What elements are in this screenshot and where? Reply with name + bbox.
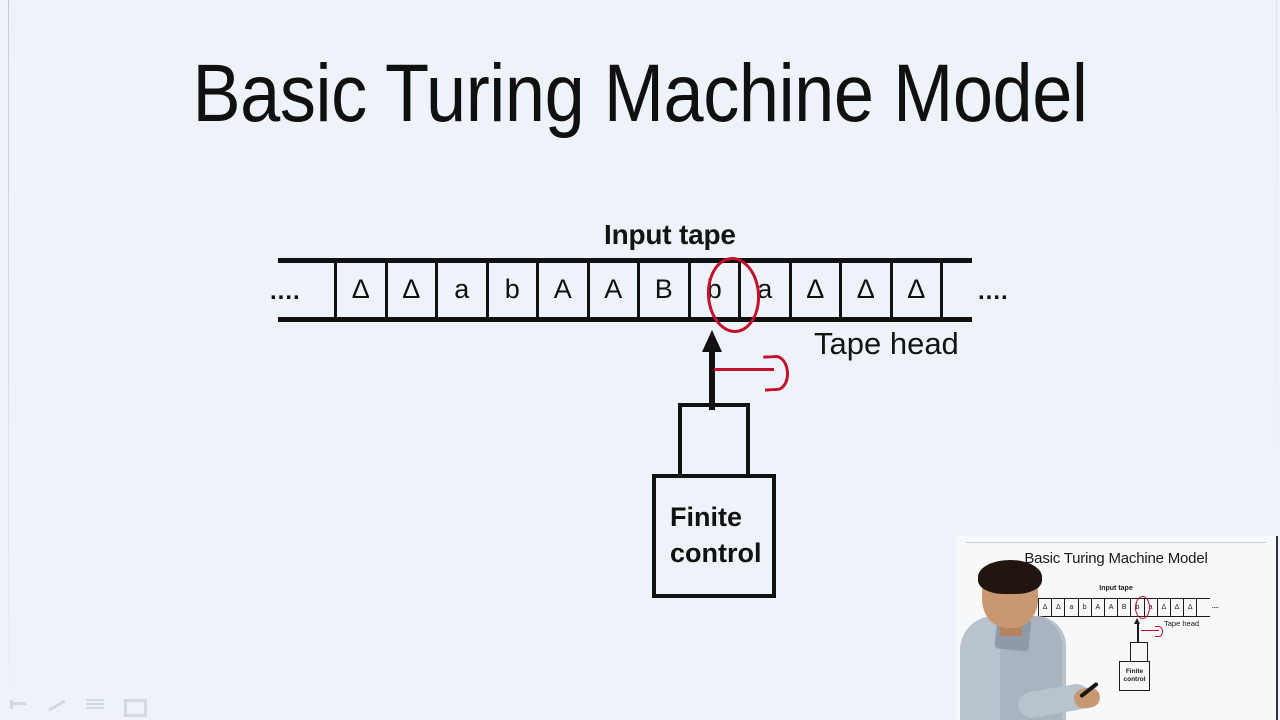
finite-control-label-line2: control	[670, 536, 762, 572]
presenter-hair	[978, 560, 1042, 594]
tape-cell-list: ΔΔabAABbaΔΔΔ	[334, 262, 940, 317]
pip-finite-control-line1: Finite	[1126, 668, 1143, 676]
tape-head-label: Tape head	[814, 326, 959, 362]
move-right-arrow-annotation	[714, 352, 794, 390]
pen-icon[interactable]	[46, 696, 68, 714]
slide-menu-icon[interactable]	[84, 696, 106, 714]
tape-cell: B	[637, 262, 691, 317]
next-slide-icon[interactable]	[122, 696, 144, 714]
tape-cell: Δ	[334, 262, 388, 317]
move-right-arrow-head	[763, 354, 790, 391]
tape-rail-bottom	[278, 317, 972, 322]
input-tape-label: Input tape	[604, 219, 736, 251]
tape-cell: Δ	[789, 262, 843, 317]
pip-tape-head-riser	[1130, 642, 1148, 662]
tape-right-ellipsis: ....	[978, 280, 1009, 304]
tape-left-ellipsis: ....	[270, 280, 301, 304]
input-tape: .... .... ΔΔabAABbaΔΔΔ	[278, 258, 972, 322]
finite-control-label-line1: Finite	[670, 500, 742, 536]
pip-head-highlight-circle	[1135, 596, 1150, 619]
tape-cell: a	[435, 262, 489, 317]
pip-move-right-arrow-head	[1155, 626, 1163, 637]
pip-tape-cell: B	[1117, 599, 1131, 616]
tape-cell: Δ	[839, 262, 893, 317]
pip-tape-head-label: Tape head	[1164, 619, 1199, 628]
tape-cell: Δ	[385, 262, 439, 317]
tape-cell: A	[536, 262, 590, 317]
pip-tape-right-ellipsis: ....	[1212, 604, 1219, 610]
pip-finite-control-box: Finite control	[1119, 661, 1150, 691]
finite-control-box: Finite control	[652, 474, 776, 598]
presentation-controls-toolbar[interactable]	[8, 696, 144, 714]
tape-cell: A	[587, 262, 641, 317]
tape-head-riser	[678, 403, 750, 475]
pip-finite-control-line2: control	[1123, 676, 1145, 684]
pip-top-rule	[966, 542, 1266, 543]
pip-tape-cell: Δ	[1183, 599, 1197, 616]
pip-tape-cell: A	[1104, 599, 1118, 616]
pip-move-right-arrow	[1141, 626, 1165, 636]
pip-tape-cell: Δ	[1157, 599, 1171, 616]
tape-cell: b	[486, 262, 540, 317]
presenter-video-overlay[interactable]: Basic Turing Machine Model Input tape ..…	[956, 536, 1278, 720]
previous-slide-icon[interactable]	[8, 696, 30, 714]
presenter-figure	[956, 560, 1086, 720]
tape-cell: b	[688, 262, 742, 317]
pip-tape-head-arrow-shaft	[1137, 622, 1139, 642]
tape-cell: a	[738, 262, 792, 317]
pip-tape-cell: Δ	[1170, 599, 1184, 616]
tape-cell: Δ	[890, 262, 944, 317]
pip-tape-cell: A	[1091, 599, 1105, 616]
